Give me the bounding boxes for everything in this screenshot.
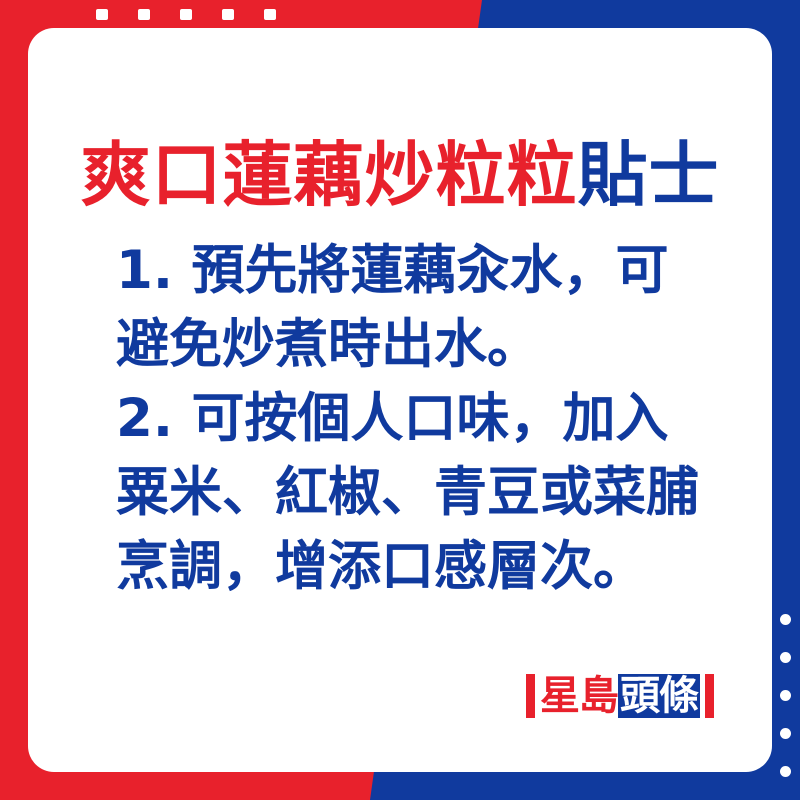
tip-line: 1. 預先將蓮藕汆水，可 <box>116 234 756 308</box>
logo-boxed-text: 頭條 <box>618 674 700 718</box>
right-dot-decoration <box>780 614 791 777</box>
decor-dot <box>180 9 192 20</box>
logo-left-bracket <box>526 674 535 718</box>
decor-dot <box>138 9 150 20</box>
decor-dot <box>222 9 234 20</box>
decor-dot <box>780 690 791 701</box>
decor-dot <box>780 728 791 739</box>
logo-right-bracket <box>705 674 714 718</box>
decor-dot <box>780 652 791 663</box>
tip-line: 2. 可按個人口味，加入 <box>116 382 756 456</box>
page-title: 爽口蓮藕炒粒粒貼士 <box>28 131 772 219</box>
title-red-segment: 爽口蓮藕炒粒粒 <box>81 134 578 216</box>
top-dot-decoration <box>96 9 276 20</box>
decor-dot <box>780 614 791 625</box>
tip-line: 粟米、紅椒、青豆或菜脯 <box>116 456 756 530</box>
decor-dot <box>264 9 276 20</box>
tip-line: 烹調，增添口感層次。 <box>116 530 756 604</box>
tips-text-block: 1. 預先將蓮藕汆水，可 避免炒煮時出水。 2. 可按個人口味，加入 粟米、紅椒… <box>116 234 756 604</box>
sing-tao-logo: 星島 頭條 <box>526 672 714 720</box>
white-card: 爽口蓮藕炒粒粒貼士 1. 預先將蓮藕汆水，可 避免炒煮時出水。 2. 可按個人口… <box>28 28 772 772</box>
decor-dot <box>780 766 791 777</box>
tip-line: 避免炒煮時出水。 <box>116 308 756 382</box>
title-blue-segment: 貼士 <box>578 134 720 216</box>
logo-red-text: 星島 <box>540 674 618 718</box>
decor-dot <box>96 9 108 20</box>
poster-canvas: 爽口蓮藕炒粒粒貼士 1. 預先將蓮藕汆水，可 避免炒煮時出水。 2. 可按個人口… <box>0 0 800 800</box>
